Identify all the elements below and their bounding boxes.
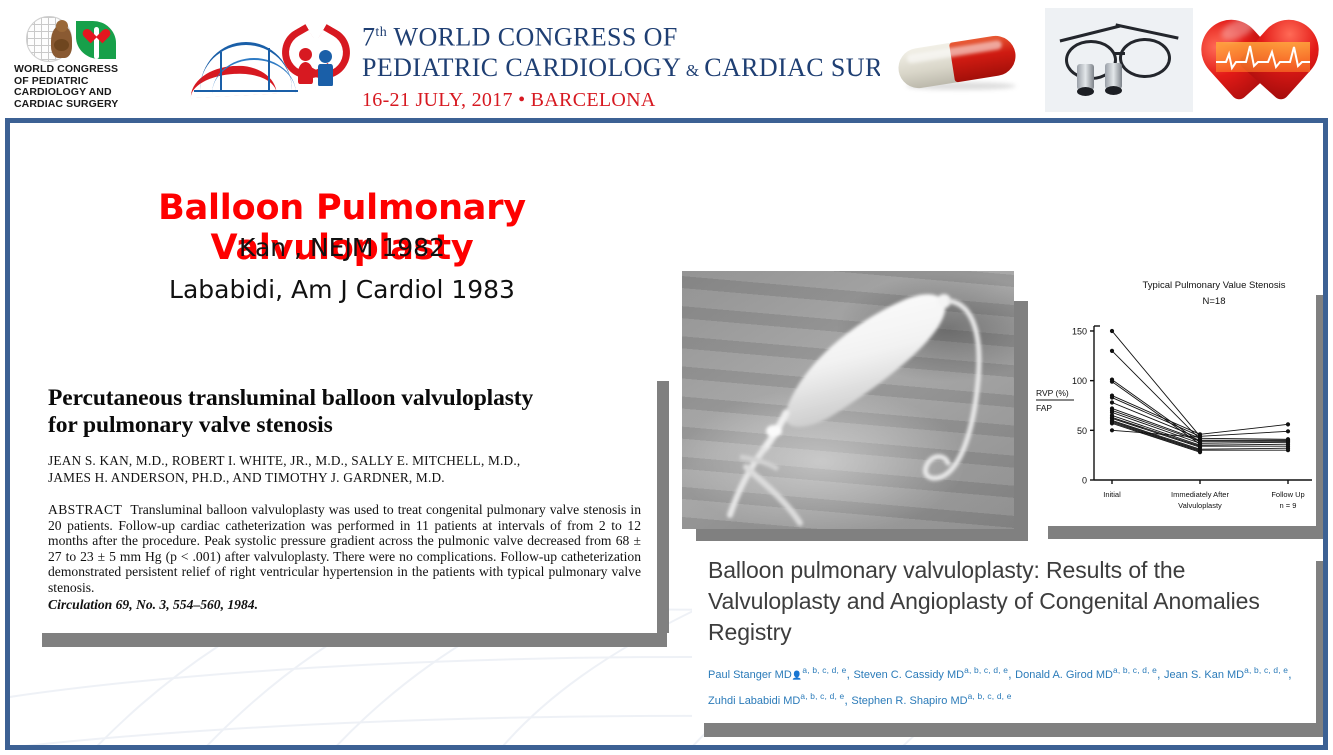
abstract-body-text: Transluminal balloon valvuloplasty was u… (48, 502, 641, 595)
chart-y-tick-label: 50 (1077, 426, 1087, 436)
chart-data-point (1286, 448, 1290, 452)
globe-icon (26, 16, 72, 62)
congress-ampersand: & (681, 61, 704, 80)
congress-line-1-text: WORLD CONGRESS OF (387, 23, 678, 52)
vaca-author-name: Zuhdi Lababidi MD (708, 695, 800, 707)
abstract-body: ABSTRACT Transluminal balloon valvulopla… (48, 502, 641, 596)
chart-series-line (1200, 444, 1288, 445)
chart-y-tick-label: 100 (1072, 376, 1087, 386)
chart-data-point (1110, 349, 1114, 353)
chart-subtitle: N=18 (1203, 296, 1226, 307)
vaca-registry-card: Balloon pulmonary valvuloplasty: Results… (692, 541, 1316, 723)
vaca-author-name: Paul Stanger MD (708, 669, 792, 681)
vaca-author-affiliations: a, b, c, d, e (802, 665, 846, 675)
corresponding-author-icon: 👤 (792, 670, 803, 680)
abstract-authors-line-2: JAMES H. ANDERSON, PH.D., AND TIMOTHY J.… (48, 470, 641, 487)
chart-x-tick-label: n = 9 (1280, 501, 1297, 510)
vaca-author-affiliations: a, b, c, d, e (968, 691, 1012, 701)
vaca-author-name: Stephen R. Shapiro MD (851, 695, 967, 707)
congress-ordinal-suffix: th (375, 25, 387, 40)
congress-dates-location: 16-21 JULY, 2017 • BARCELONA (362, 86, 892, 114)
chart-data-point (1110, 395, 1114, 399)
chart-x-tick-label: Follow Up (1271, 490, 1304, 499)
vaca-author-name: Steven C. Cassidy MD (853, 669, 964, 681)
congress-title-block: 7th WORLD CONGRESS OF PEDIATRIC CARDIOLO… (190, 18, 890, 113)
abstract-authors-line-1: JEAN S. KAN, M.D., ROBERT I. WHITE, JR.,… (48, 453, 641, 470)
heart-with-children-icon (280, 24, 358, 98)
chart-x-tick-label: Initial (1103, 490, 1121, 499)
circulation-abstract-card: Percutaneous transluminal balloon valvul… (32, 371, 657, 633)
surgical-loupes-photo (1045, 8, 1193, 112)
abstract-card-shadow-bottom (42, 633, 667, 647)
abstract-citation: Circulation 69, No. 3, 554–560, 1984. (48, 597, 641, 613)
chart-y-tick-label: 0 (1082, 476, 1087, 486)
chart-data-point (1110, 380, 1114, 384)
chart-data-point (1286, 429, 1290, 433)
abstract-title: Percutaneous transluminal balloon valvul… (48, 385, 641, 439)
vaca-author-name: Donald A. Girod MD (1015, 669, 1113, 681)
chart-data-point (1198, 435, 1202, 439)
reference-line-1: Kan , NEJM 1982 (32, 233, 652, 262)
balloon-valvuloplasty-angiogram (682, 271, 1014, 529)
leaf-heart-icon (76, 17, 116, 61)
chart-ylabel-denominator: FAP (1036, 403, 1052, 413)
chart-data-point (1286, 422, 1290, 426)
chart-data-point (1110, 329, 1114, 333)
logo-text: WORLD CONGRESS OF PEDIATRIC CARDIOLOGY A… (14, 64, 134, 110)
slide-screenshot: WORLD CONGRESS OF PEDIATRIC CARDIOLOGY A… (0, 0, 1333, 755)
chart-y-tick-label: 150 (1072, 326, 1087, 336)
vaca-author-name: Jean S. Kan MD (1164, 669, 1244, 681)
abstract-authors: JEAN S. KAN, M.D., ROBERT I. WHITE, JR.,… (48, 453, 641, 486)
rvp-fap-slope-chart: Typical Pulmonary Value StenosisN=180501… (1034, 268, 1316, 526)
chart-x-tick-label: Immediately After (1171, 490, 1229, 499)
chart-data-point (1198, 450, 1202, 454)
congress-ordinal: 7 (362, 23, 375, 52)
reference-line-2: Lababidi, Am J Cardiol 1983 (32, 275, 652, 304)
presentation-slide: Balloon Pulmonary Valvuloplasty Kan , NE… (5, 118, 1328, 750)
abstract-title-line-2: for pulmonary valve stenosis (48, 412, 641, 439)
abstract-title-line-1: Percutaneous transluminal balloon valvul… (48, 385, 641, 412)
chart-data-point (1110, 428, 1114, 432)
vaca-author-affiliations: a, b, c, d, e (1244, 665, 1288, 675)
congress-line-1: 7th WORLD CONGRESS OF (362, 18, 892, 53)
vaca-author-affiliations: a, b, c, d, e (800, 691, 844, 701)
chart-data-point (1110, 421, 1114, 425)
chart-series-line (1200, 431, 1288, 436)
abstract-card-shadow-right (657, 381, 669, 633)
vaca-author-affiliations: a, b, c, d, e (964, 665, 1008, 675)
congress-line-2: PEDIATRIC CARDIOLOGY & CARDIAC SURGERY (362, 53, 892, 86)
abstract-label: ABSTRACT (48, 502, 122, 517)
ecg-heart-photo (1200, 6, 1326, 112)
vaca-title: Balloon pulmonary valvuloplasty: Results… (708, 555, 1300, 648)
chart-series-line (1200, 438, 1288, 439)
chart-ylabel-numerator: RVP (%) (1036, 388, 1069, 398)
world-congress-logo: WORLD CONGRESS OF PEDIATRIC CARDIOLOGY A… (14, 14, 130, 114)
vaca-author-affiliations: a, b, c, d, e (1113, 665, 1157, 675)
vaca-card-shadow-bottom (704, 723, 1316, 737)
chart-series-line (1200, 448, 1288, 449)
chart-x-tick-label: Valvuloplasty (1178, 501, 1222, 510)
chart-series-line (1200, 442, 1288, 443)
vaca-authors: Paul Stanger MD👤a, b, c, d, e, Steven C.… (708, 660, 1300, 712)
chart-title: Typical Pulmonary Value Stenosis (1143, 280, 1286, 291)
chart-data-point (1110, 400, 1114, 404)
chart-series-line (1200, 424, 1288, 434)
pill-photo (880, 10, 1038, 108)
congress-line-2-head: PEDIATRIC CARDIOLOGY (362, 53, 681, 82)
vaca-card-shadow-right (1316, 561, 1328, 737)
congress-banner: WORLD CONGRESS OF PEDIATRIC CARDIOLOGY A… (0, 0, 1333, 118)
